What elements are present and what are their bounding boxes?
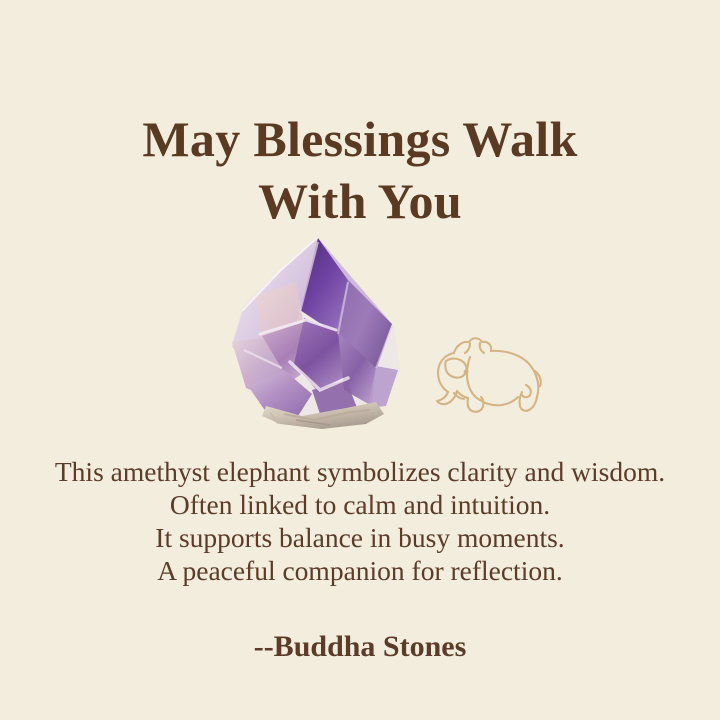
description-line-3: It supports balance in busy moments.	[0, 521, 720, 554]
description-line-1: This amethyst elephant symbolizes clarit…	[0, 455, 720, 488]
description-line-2: Often linked to calm and intuition.	[0, 488, 720, 521]
description-line-4: A peaceful companion for reflection.	[0, 554, 720, 587]
promo-card: May Blessings Walk With You	[0, 0, 720, 720]
page-title-line-1: May Blessings Walk	[0, 108, 720, 170]
artwork-band	[0, 225, 720, 435]
description-text: This amethyst elephant symbolizes clarit…	[0, 455, 720, 587]
page-title-line-2: With You	[0, 170, 720, 232]
brand-signature: --Buddha Stones	[0, 629, 720, 665]
amethyst-crystal-image	[226, 230, 422, 430]
page-title: May Blessings Walk With You	[0, 108, 720, 232]
elephant-icon	[434, 331, 546, 417]
elephant-figurine-image	[434, 331, 546, 417]
amethyst-crystal-icon	[226, 230, 422, 430]
